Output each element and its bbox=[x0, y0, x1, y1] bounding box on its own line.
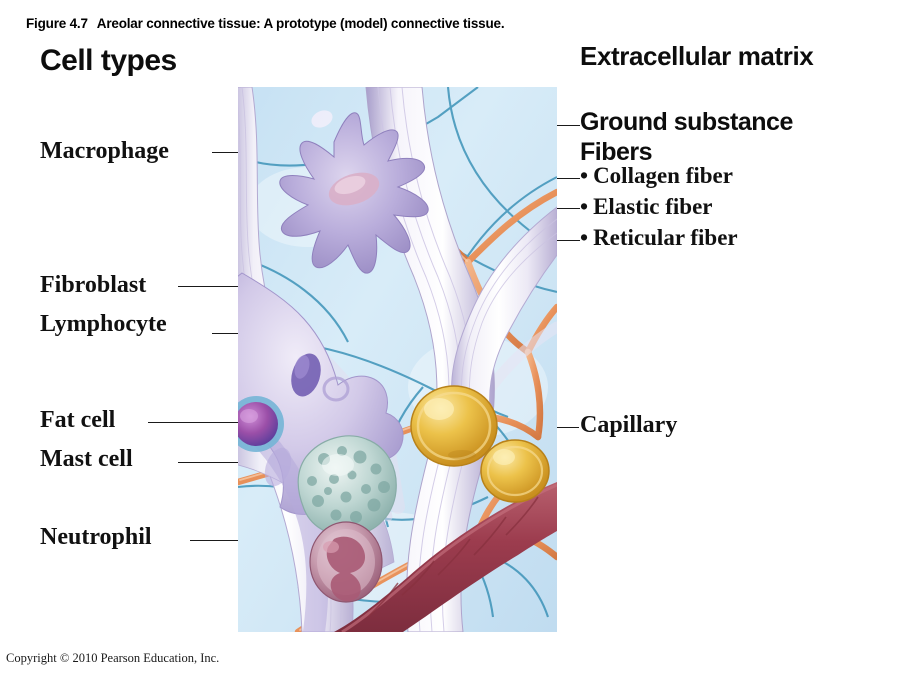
label-fibroblast: Fibroblast bbox=[40, 272, 146, 299]
mast-cell bbox=[298, 436, 396, 536]
label-capillary: Capillary bbox=[580, 412, 677, 439]
bullet-collagen-fiber-label: Collagen fiber bbox=[593, 163, 733, 188]
figure-caption: Figure 4.7Areolar connective tissue: A p… bbox=[26, 16, 504, 31]
fat-cell-small bbox=[481, 440, 549, 502]
label-mast-cell: Mast cell bbox=[40, 446, 133, 473]
cell-types-heading: Cell types bbox=[40, 44, 177, 78]
bullet-reticular-fiber-label: Reticular fiber bbox=[593, 225, 738, 250]
label-macrophage: Macrophage bbox=[40, 138, 169, 165]
bullet-elastic-fiber-label: Elastic fiber bbox=[593, 194, 712, 219]
bullet-elastic-fiber: •Elastic fiber bbox=[580, 194, 713, 220]
extracellular-matrix-heading: Extracellular matrix bbox=[580, 44, 880, 69]
bullet-dot-icon: • bbox=[580, 225, 588, 250]
figure-caption-text: Areolar connective tissue: A prototype (… bbox=[97, 16, 505, 31]
label-lymphocyte: Lymphocyte bbox=[40, 311, 167, 338]
bullet-reticular-fiber: •Reticular fiber bbox=[580, 225, 738, 251]
copyright-notice: Copyright © 2010 Pearson Education, Inc. bbox=[6, 651, 219, 666]
bullet-dot-icon: • bbox=[580, 163, 588, 188]
bullet-collagen-fiber: •Collagen fiber bbox=[580, 163, 733, 189]
figure-number: Figure 4.7 bbox=[26, 16, 88, 31]
bullet-dot-icon: • bbox=[580, 194, 588, 219]
neutrophil-cell bbox=[310, 522, 382, 602]
areolar-tissue-illustration bbox=[238, 87, 557, 632]
fat-cell-large bbox=[411, 386, 497, 466]
label-fat-cell: Fat cell bbox=[40, 407, 115, 434]
label-neutrophil: Neutrophil bbox=[40, 524, 152, 551]
ground-substance-heading: Ground substance bbox=[580, 108, 793, 137]
